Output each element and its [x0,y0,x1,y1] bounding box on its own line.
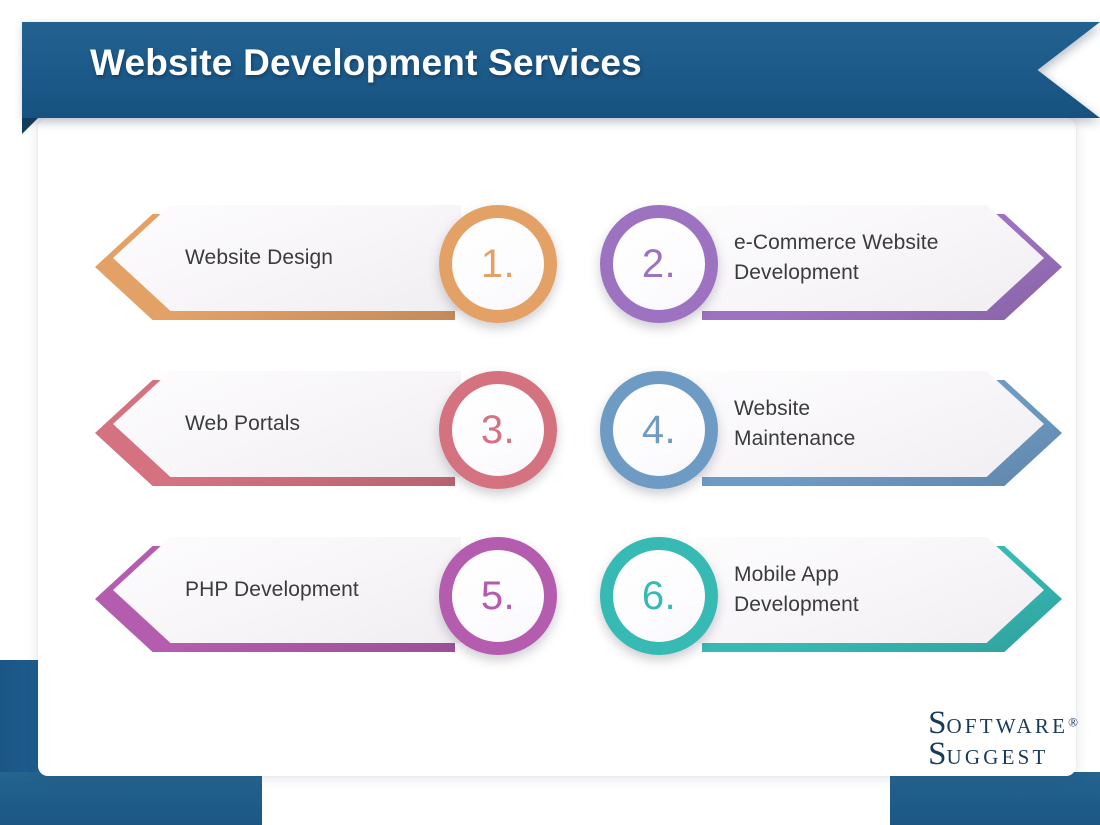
service-item-6[interactable]: Mobile App Development 6. [592,537,1062,662]
ribbon-fold-triangle [22,118,38,134]
service-number-1: 1. [481,244,515,284]
service-label-3: Web Portals [185,371,435,477]
service-label-6-line2: Development [734,590,996,620]
brand-logo-line1: SOFTWARE® [928,708,1078,739]
brand-logo-s2: S [928,736,946,772]
registered-trademark-icon: ® [1068,715,1078,730]
service-item-5[interactable]: PHP Development 5. [95,537,565,662]
brand-logo-software: OFTWARE [947,714,1069,738]
infographic-slide: Website Development Services Website Des… [0,0,1100,825]
service-number-4: 4. [642,410,676,450]
service-item-2[interactable]: e-Commerce Website Development 2. [592,205,1062,330]
service-label-1: Website Design [185,205,435,311]
service-label-6-line1: Mobile App [734,560,996,590]
service-item-4[interactable]: Website Maintenance 4. [592,371,1062,496]
page-title: Website Development Services [90,42,642,84]
service-label-2-line1: e-Commerce Website [734,228,996,258]
services-list: Website Design 1. e-Commerce Website Dev… [0,0,1100,825]
service-number-3: 3. [481,410,515,450]
service-number-2: 2. [642,244,676,284]
service-badge-1[interactable]: 1. [439,205,557,323]
service-badge-5[interactable]: 5. [439,537,557,655]
service-label-2-line2: Development [734,258,996,288]
service-badge-6[interactable]: 6. [600,537,718,655]
service-badge-4[interactable]: 4. [600,371,718,489]
service-label-2: e-Commerce Website Development [734,205,996,311]
service-number-6: 6. [642,576,676,616]
service-label-4-line1: Website [734,394,996,424]
brand-logo-line2: SUGGEST [928,739,1078,770]
service-number-5: 5. [481,576,515,616]
service-label-6: Mobile App Development [734,537,996,643]
service-label-5: PHP Development [185,537,435,643]
service-label-4: Website Maintenance [734,371,996,477]
service-badge-2[interactable]: 2. [600,205,718,323]
service-label-4-line2: Maintenance [734,424,996,454]
service-item-1[interactable]: Website Design 1. [95,205,565,330]
service-badge-3[interactable]: 3. [439,371,557,489]
brand-logo: SOFTWARE® SUGGEST [928,708,1078,770]
brand-logo-suggest: UGGEST [947,745,1049,769]
service-item-3[interactable]: Web Portals 3. [95,371,565,496]
